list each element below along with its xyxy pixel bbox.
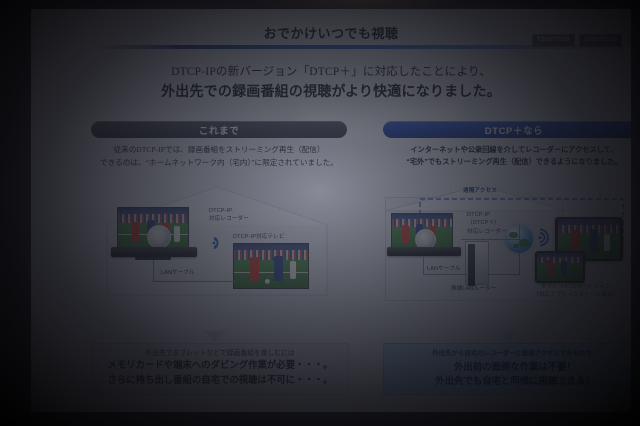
left-section-header: これまで	[91, 121, 347, 138]
tv-crowd	[234, 250, 308, 260]
globe-riser-line	[519, 225, 520, 240]
left-body-line-1: 従来のDTCP-IPでは、録画番組をストリーミング再生（配信）	[91, 144, 347, 157]
right-down-arrow-icon	[497, 331, 519, 342]
right-recorder-label-line-1: DTCP-IP	[467, 211, 507, 219]
left-column: これまで 従来のDTCP-IPでは、録画番組をストリーミング再生（配信） できる…	[91, 121, 347, 169]
right-cable-label: LANケーブル	[427, 265, 461, 273]
phone-crowd	[537, 257, 583, 263]
right-recorder-body	[387, 247, 461, 256]
globe-landmass-1	[509, 232, 518, 238]
lead-line-2: 外出先での録画番組の視聴がより快適になりました。	[31, 82, 631, 103]
right-body-line-2: “宅外”でもストリーミング再生（配信）できるようになりました。	[383, 156, 631, 168]
disc-media-icon	[147, 225, 171, 249]
model-badge-z520: Z520/Z510	[579, 34, 622, 47]
right-recorder-label: DTCP-IP （DTCP＋） 対応レコーダー	[467, 211, 507, 236]
model-badge-t560: T560/T550	[532, 34, 575, 47]
model-badges: T560/T550 Z520/Z510	[532, 34, 623, 47]
lan-cable-line-vertical	[153, 260, 154, 282]
phone-screen	[537, 253, 583, 281]
left-recorder-label: DTCP-IP 対応レコーダー	[209, 207, 249, 224]
left-callout-box: 外出先でタブレットなどで録画番組を楽しむには メモリカードや端末へのダビング作業…	[91, 343, 349, 395]
tablet-player-blue	[590, 229, 598, 252]
tablet-crowd	[558, 225, 620, 234]
left-down-arrow-icon	[204, 331, 226, 342]
slide-header: おでかけいつでも視聴 T560/T550 Z520/Z510	[31, 17, 631, 51]
tv-player-white	[290, 261, 296, 279]
lan-cable-line-horizontal	[153, 281, 235, 282]
smartphone-device-icon	[535, 251, 585, 283]
recorder-body	[111, 247, 197, 257]
router-label: 無線LANルーター	[451, 285, 496, 293]
right-callout-box: 外出先から自宅のレコーダーに直接アクセスできるので、 外出前の面倒な作業は不要！…	[383, 343, 631, 395]
mobile-device-label-line-1: タブレット/スマートフォン	[533, 283, 618, 291]
right-column: DTCP＋なら インターネットや公衆回線を介してレコーダーにアクセスして、 “宅…	[383, 121, 631, 168]
tablet-player-red	[572, 230, 580, 252]
tablet-player-white	[604, 234, 610, 251]
wireless-router-icon	[465, 241, 489, 285]
globe-landmass-2	[519, 239, 529, 247]
footnote-text: ※現在番組の宅外配信には対応していません。	[523, 381, 621, 387]
page-number: 29	[608, 393, 615, 400]
phone-player-red	[547, 260, 553, 276]
recorder-to-globe-line	[461, 239, 519, 240]
tv-pitch-line	[234, 272, 308, 273]
router-front-panel	[468, 244, 475, 286]
tv-screen-thumbnail	[233, 243, 309, 289]
tv-player-blue	[274, 256, 283, 281]
globe-drop-line	[519, 253, 520, 275]
right-recorder-label-line-3: 対応レコーダー	[467, 228, 507, 236]
right-wifi-signal-icon	[537, 227, 553, 252]
left-recorder-label-line-1: DTCP-IP	[209, 207, 249, 215]
remote-access-label: 遠隔アクセス	[463, 187, 497, 195]
left-callout-line-1: 外出先でタブレットなどで録画番組を楽しむには	[98, 349, 342, 359]
tv-ball	[265, 279, 270, 284]
tv-player-red	[250, 257, 259, 281]
mobile-device-label-line-2: （対応アプリインストール済み）	[533, 291, 618, 299]
left-cable-label: LANケーブル	[161, 269, 195, 277]
wifi-signal-icon	[211, 235, 227, 254]
right-section-header: DTCP＋なら	[383, 121, 631, 138]
right-callout-line-2: 外出前の面倒な作業は不要！	[390, 360, 631, 374]
right-body-line-1: インターネットや公衆回線を介してレコーダーにアクセスして、	[383, 144, 631, 156]
right-diagram: 遠隔アクセス DTCP-IP （DTCP＋） 対応レコーダー	[383, 181, 631, 309]
globe-landmass-3	[513, 244, 519, 248]
left-body-text: 従来のDTCP-IPでは、録画番組をストリーミング再生（配信） できるのは、“ホ…	[91, 144, 347, 169]
router-to-globe-line	[487, 274, 519, 275]
phone-player-blue	[561, 261, 567, 276]
right-lan-cable-vertical	[423, 256, 424, 275]
right-body-text: インターネットや公衆回線を介してレコーダーにアクセスして、 “宅外”でもストリー…	[383, 144, 631, 168]
r-screen-player-red	[402, 225, 409, 243]
screen-player-red	[132, 222, 139, 242]
screen-player-white	[174, 226, 180, 242]
right-recorder-label-line-2: （DTCP＋）	[467, 219, 507, 227]
left-callout-line-2: メモリカードや端末へのダビング作業が必要・・・。	[98, 360, 342, 374]
left-body-line-2: できるのは、“ホームネットワーク内（宅内）”に限定されていました。	[91, 157, 347, 170]
lead-statement: DTCP-IPの新バージョン「DTCP＋」に対応したことにより、 外出先での録画…	[31, 64, 631, 103]
projected-slide-photo: おでかけいつでも視聴 T560/T550 Z520/Z510 DTCP-IPの新…	[0, 0, 640, 426]
presentation-slide: おでかけいつでも視聴 T560/T550 Z520/Z510 DTCP-IPの新…	[31, 9, 631, 412]
lead-line-1: DTCP-IPの新バージョン「DTCP＋」に対応したことにより、	[31, 64, 631, 81]
left-diagram: DTCP-IP 対応レコーダー DTCP-IP対応テレビ	[91, 181, 347, 301]
right-lan-cable-horizontal	[423, 274, 469, 275]
left-tv-label: DTCP-IP対応テレビ	[233, 233, 285, 241]
right-callout-line-1: 外出先から自宅のレコーダーに直接アクセスできるので、	[390, 349, 631, 359]
left-recorder-label-line-2: 対応レコーダー	[209, 215, 249, 223]
left-callout-line-3: さらに持ち出し番組の自宅での視聴は不可に・・・。	[98, 375, 342, 389]
mobile-device-label: タブレット/スマートフォン （対応アプリインストール済み）	[533, 283, 618, 300]
